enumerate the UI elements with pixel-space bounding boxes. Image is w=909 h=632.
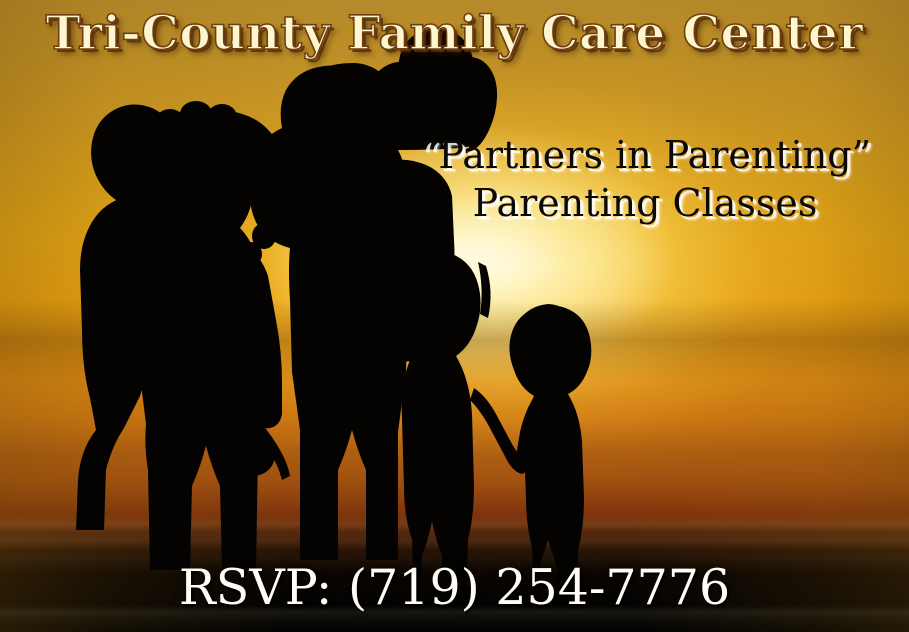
subtitle-line-program-type: Parenting Classes <box>395 184 895 224</box>
rsvp-phone-number: RSVP: (719) 254-7776 <box>0 559 909 616</box>
silhouette-child-carried-body <box>76 196 150 530</box>
silhouette-child-bob-head <box>389 250 473 355</box>
subtitle-line-program-name: “Partners in Parenting” <box>395 136 895 176</box>
silhouette-child-small-head <box>511 304 579 389</box>
family-silhouette-group <box>0 0 909 632</box>
page-title: Tri-County Family Care Center <box>0 6 909 61</box>
subtitle-block: “Partners in Parenting” Parenting Classe… <box>395 136 895 223</box>
poster-canvas: Tri-County Family Care Center “Partners … <box>0 0 909 632</box>
